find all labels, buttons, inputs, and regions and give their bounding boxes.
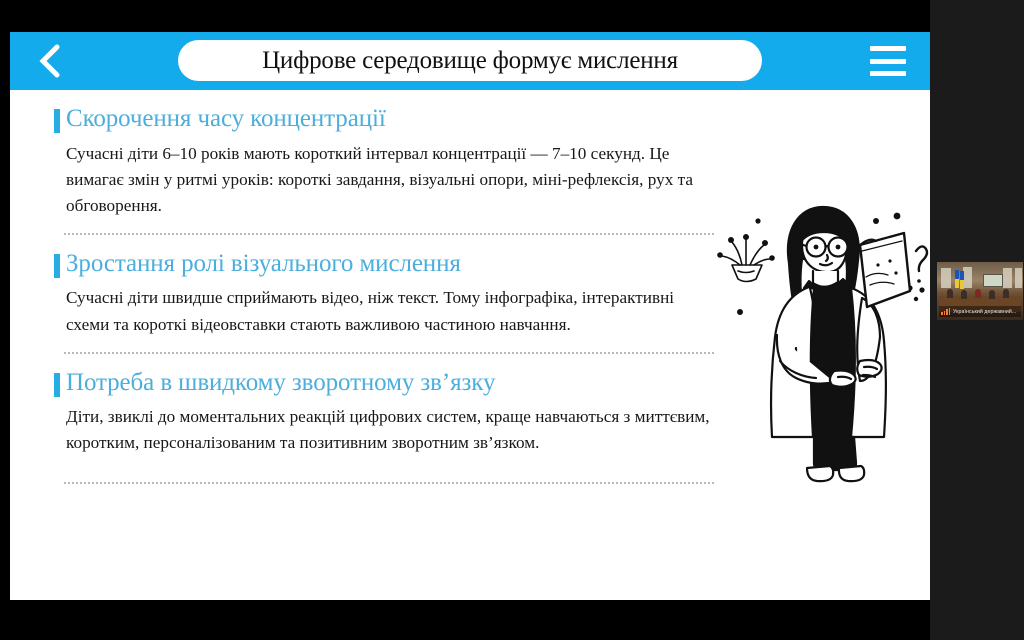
presentation-slide: Цифрове середовище формує мислення Скоро… bbox=[10, 32, 930, 600]
section-divider-bottom bbox=[64, 482, 714, 484]
chevron-left-icon bbox=[37, 44, 63, 78]
section-body: Сучасні діти швидше сприймають відео, ні… bbox=[66, 285, 711, 337]
page-title: Цифрове середовище формує мислення bbox=[262, 47, 678, 75]
slide-header-bar: Цифрове середовище формує мислення bbox=[10, 32, 930, 90]
person-shape bbox=[1003, 289, 1009, 298]
right-dark-panel bbox=[930, 0, 1024, 640]
participant-name-label: Український державний... bbox=[939, 306, 1021, 317]
participant-video-thumbnail[interactable]: Український державний... bbox=[937, 262, 1023, 320]
participant-name: Український державний... bbox=[953, 309, 1017, 315]
section-heading-row: Скорочення часу концентрації bbox=[54, 104, 714, 135]
window-shape bbox=[941, 268, 951, 288]
slide-body: Скорочення часу концентрації Сучасні діт… bbox=[10, 90, 930, 600]
accent-bar-icon bbox=[54, 373, 60, 397]
scientist-with-clipboard-illustration bbox=[710, 185, 930, 485]
flag-shape bbox=[960, 271, 964, 289]
section-attention-span: Скорочення часу концентрації Сучасні діт… bbox=[54, 104, 714, 219]
section-visual-thinking: Зростання ролі візуального мислення Суча… bbox=[54, 249, 714, 338]
signal-bars-icon bbox=[941, 308, 950, 315]
menu-line-1 bbox=[870, 46, 906, 51]
slide-title-pill: Цифрове середовище формує мислення bbox=[178, 40, 762, 81]
window-shape bbox=[963, 267, 972, 288]
section-body: Діти, звиклі до моментальних реакцій циф… bbox=[66, 404, 711, 456]
section-heading-row: Потреба в швидкому зворотному зв’язку bbox=[54, 368, 714, 399]
back-button[interactable] bbox=[30, 41, 70, 81]
accent-bar-icon bbox=[54, 254, 60, 278]
projector-screen-shape bbox=[983, 274, 1003, 287]
section-heading: Скорочення часу концентрації bbox=[66, 104, 386, 135]
menu-line-3 bbox=[870, 71, 906, 76]
accent-bar-icon bbox=[54, 109, 60, 133]
person-shape bbox=[989, 290, 995, 299]
section-heading-row: Зростання ролі візуального мислення bbox=[54, 249, 714, 280]
section-heading: Потреба в швидкому зворотному зв’язку bbox=[66, 368, 495, 399]
section-fast-feedback: Потреба в швидкому зворотному зв’язку Ді… bbox=[54, 368, 714, 457]
person-shape bbox=[961, 290, 967, 299]
person-shape bbox=[947, 289, 953, 298]
section-divider bbox=[64, 233, 714, 235]
flag-shape bbox=[955, 270, 959, 288]
hamburger-menu-icon[interactable] bbox=[870, 46, 906, 76]
menu-line-2 bbox=[870, 59, 906, 64]
section-body: Сучасні діти 6–10 років мають короткий і… bbox=[66, 141, 711, 219]
slide-text-column: Скорочення часу концентрації Сучасні діт… bbox=[54, 104, 714, 498]
window-shape bbox=[1015, 268, 1022, 288]
section-heading: Зростання ролі візуального мислення bbox=[66, 249, 461, 280]
person-shape bbox=[975, 289, 981, 298]
window-shape bbox=[1003, 268, 1012, 288]
section-divider bbox=[64, 352, 714, 354]
screen-share-view: Цифрове середовище формує мислення Скоро… bbox=[0, 0, 1024, 640]
